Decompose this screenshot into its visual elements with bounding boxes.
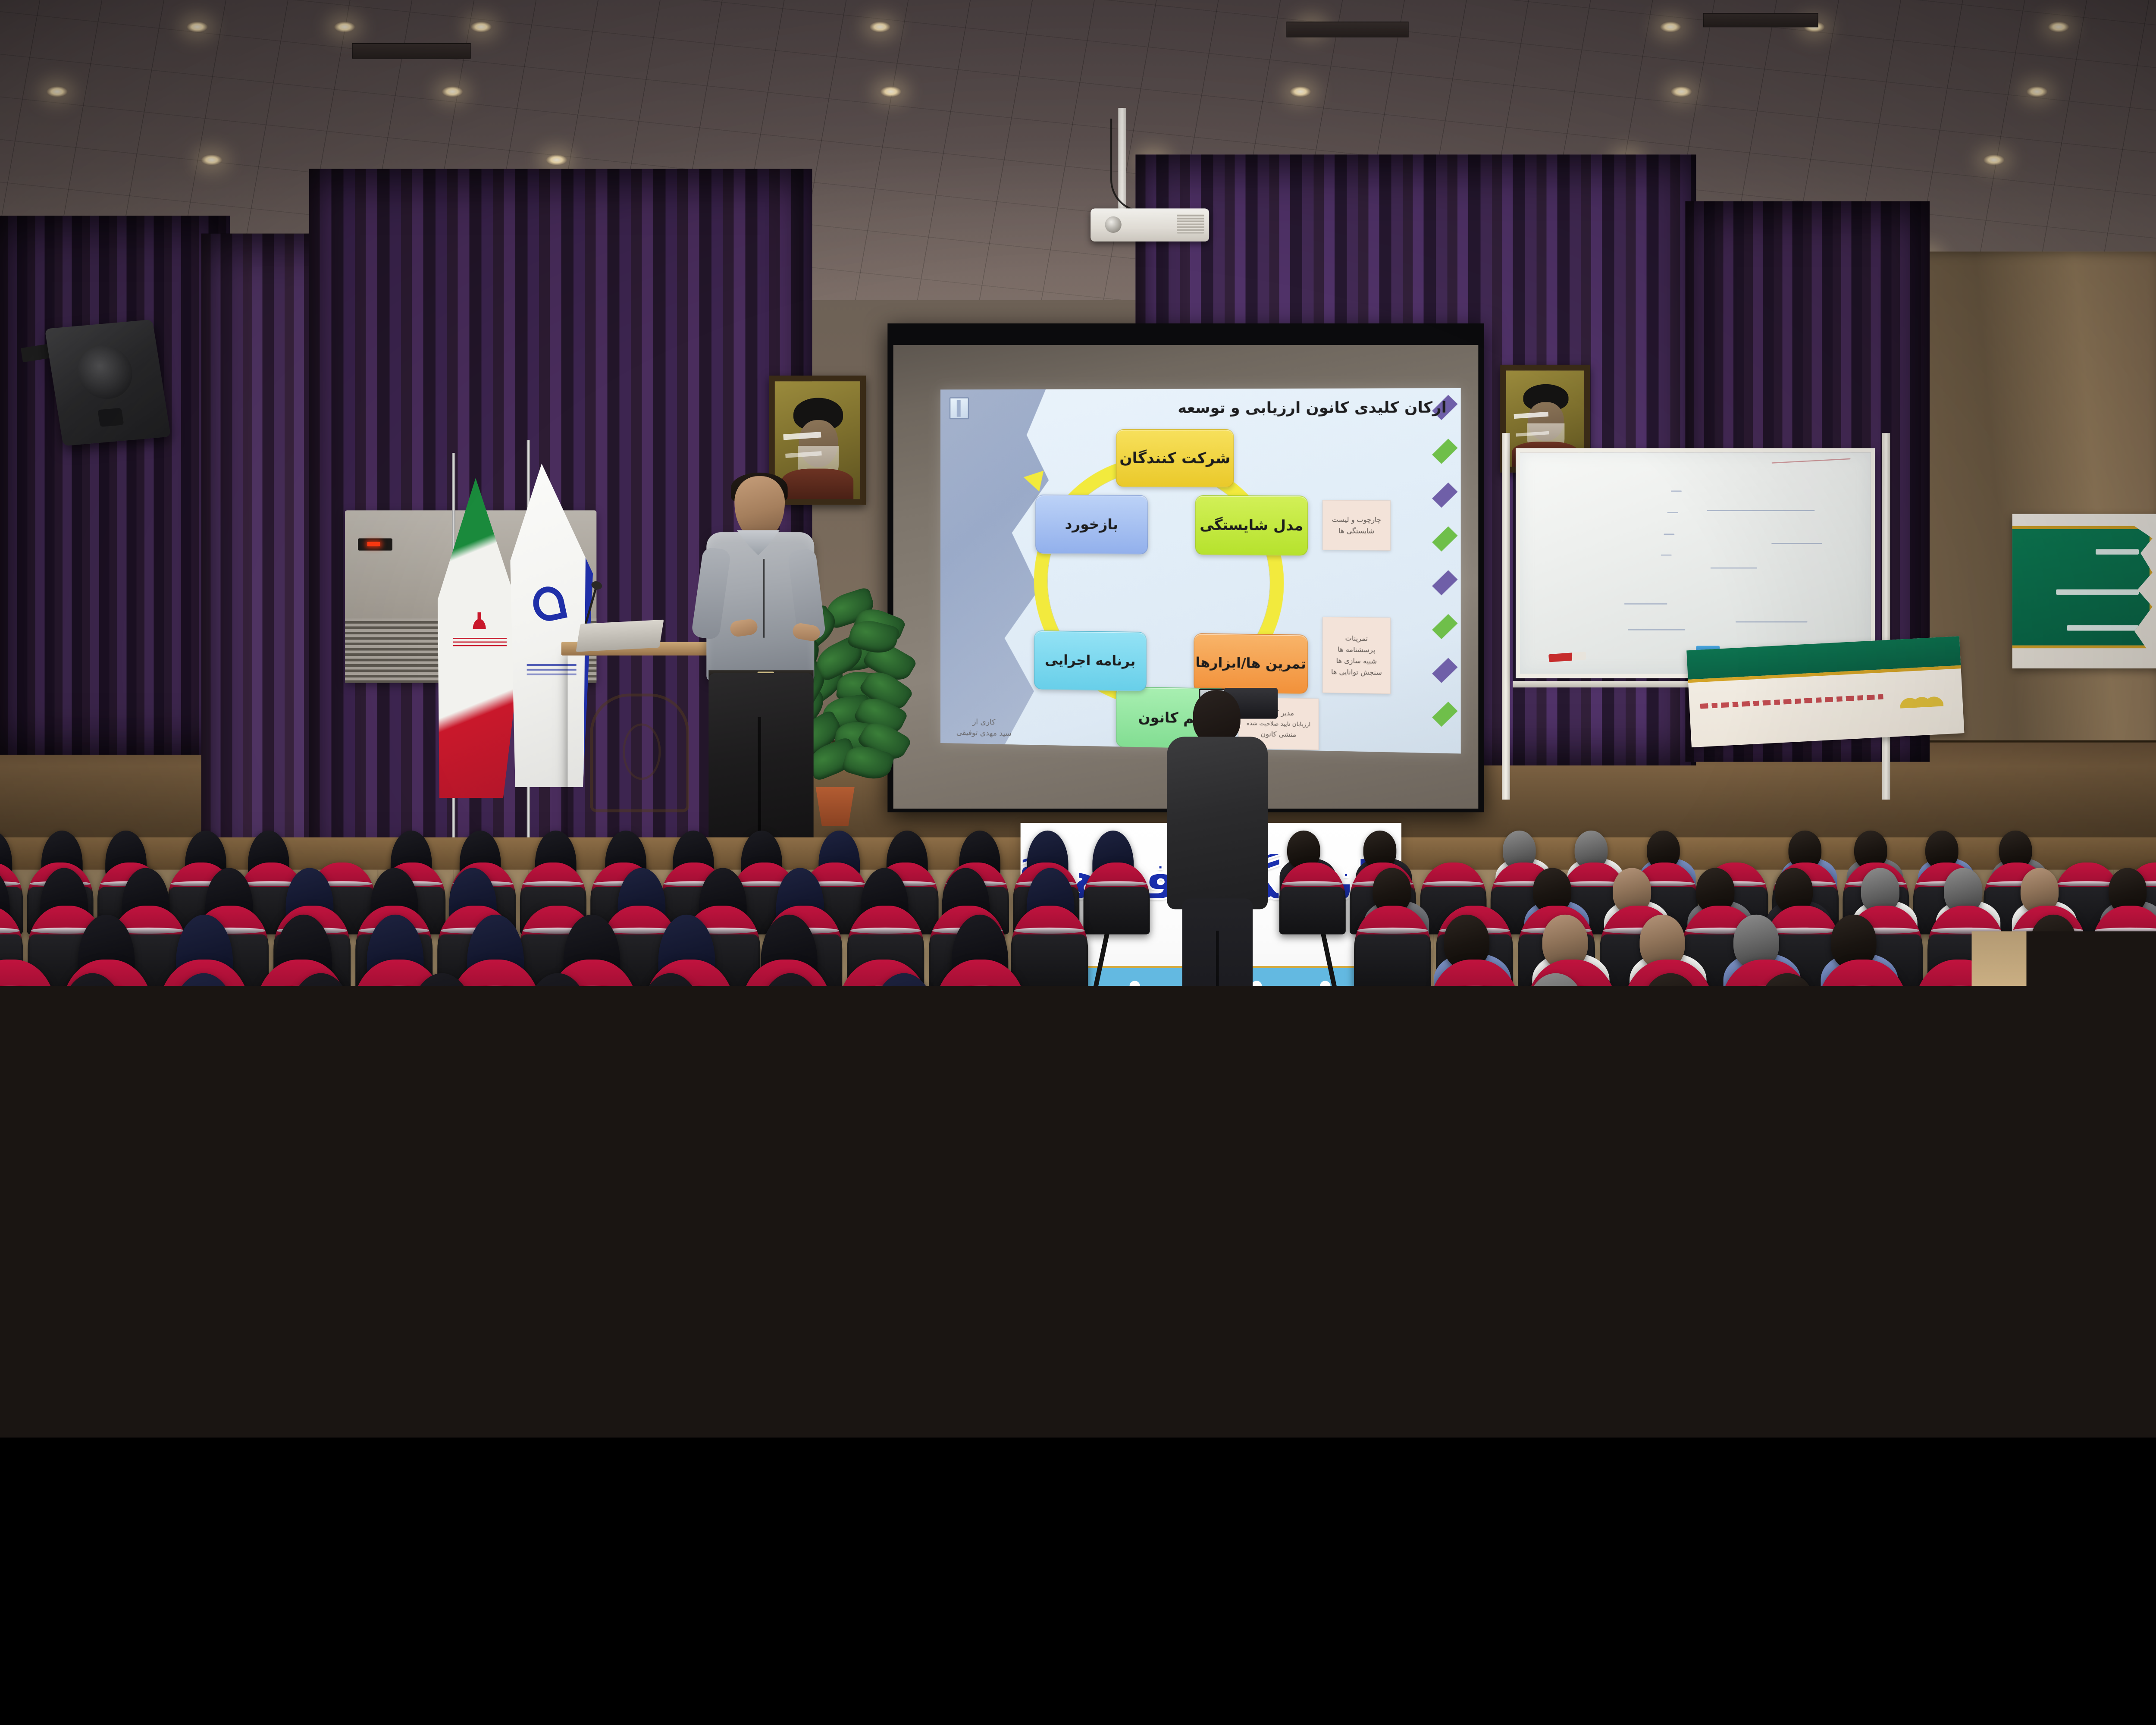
ceiling-downlight <box>870 22 890 32</box>
ceiling-downlight <box>2027 86 2047 97</box>
projector-lens-icon <box>1105 216 1122 233</box>
slide-credit-line-1: کاری از <box>956 716 1012 728</box>
podium-carving <box>590 693 689 812</box>
audience-chair[interactable] <box>1279 862 1346 935</box>
operator-shoe-left <box>1176 1074 1215 1089</box>
wall-banner-green <box>2012 514 2156 668</box>
slide-diamond <box>1432 439 1457 464</box>
ceiling-downlight <box>1984 154 2004 165</box>
slide-diamond <box>1432 702 1457 727</box>
audience-chair[interactable] <box>1011 906 1088 990</box>
ceiling-downlight <box>546 154 567 165</box>
note-line: سنجش توانایی ها <box>1326 668 1388 677</box>
ceiling-downlight <box>47 86 67 97</box>
slide-diamond <box>1432 658 1457 683</box>
slide-title: ارکان کلیدی کانون ارزیابی و توسعه <box>1170 398 1447 417</box>
audience-chair[interactable] <box>1354 906 1431 990</box>
chair-armrest[interactable] <box>458 1242 513 1260</box>
ceiling-downlight <box>1671 86 1692 97</box>
chair-armrest[interactable] <box>1632 1389 1701 1412</box>
presenter <box>686 476 856 864</box>
ceiling-downlight <box>2048 22 2069 32</box>
operator-torso <box>1167 737 1268 909</box>
node-exercises-tools: تمرین ها/ابزارها <box>1194 633 1308 694</box>
ceiling-downlight <box>334 22 355 32</box>
node-feedback: بازخورد <box>1035 495 1148 555</box>
banner-wide-red-text <box>1700 694 1883 709</box>
camera-operator <box>1160 690 1275 1107</box>
ceiling-downlight <box>201 154 222 165</box>
audience-chair[interactable] <box>1084 862 1150 935</box>
note-line: شایستگی ها <box>1326 527 1388 535</box>
slide-diamond <box>1432 483 1457 508</box>
operator-head <box>1193 690 1241 743</box>
operator-shoe-right <box>1221 1074 1260 1089</box>
ceiling-vent-far-right <box>1703 13 1818 27</box>
slide-diamond <box>1432 614 1457 639</box>
audience-chair[interactable] <box>1429 960 1520 1060</box>
note-tools: تمرینات پرسشنامه ها شبیه سازی ها سنجش تو… <box>1322 617 1391 694</box>
ceiling-downlight <box>471 22 492 32</box>
projector-cable <box>1110 119 1150 212</box>
note-line: شبیه سازی ها <box>1326 656 1388 665</box>
node-participants: شرکت کنندگان <box>1116 429 1234 487</box>
slide-credit-line-2: سید مهدی توفیقی <box>956 727 1012 739</box>
banner-green-panel <box>2012 526 2153 648</box>
ceiling-downlight <box>442 86 463 97</box>
speaker-tweeter-icon <box>97 408 124 427</box>
pa-speaker <box>45 320 171 446</box>
operator-legs <box>1182 898 1253 1078</box>
slide-decoration-shape <box>940 388 1049 754</box>
slide-logo-icon <box>950 397 969 419</box>
ac-indicator-light <box>358 538 392 550</box>
auditorium-scene: ارکان کلیدی کانون ارزیابی و توسعه شرکت ک… <box>0 0 2156 1437</box>
ceiling-projector <box>1091 208 1209 241</box>
ceiling-downlight <box>881 86 901 97</box>
node-execution-plan: برنامه اجرایی <box>1034 630 1147 691</box>
presenter-head <box>734 476 785 539</box>
speaker-cone-icon <box>74 343 136 401</box>
podium-laptop <box>576 620 664 652</box>
slide-diamond-column <box>1433 392 1457 750</box>
ceiling-vent-right <box>1286 22 1408 38</box>
projector-vent-icon <box>1177 214 1204 234</box>
presenter-lapel-mic <box>763 559 765 638</box>
ceiling-downlight <box>1290 86 1311 97</box>
curtain-far-left <box>0 216 230 755</box>
tripod-lock-right[interactable] <box>1279 992 1294 1005</box>
ceiling-downlight <box>187 22 207 32</box>
presenter-trousers <box>708 673 813 856</box>
chair-armrest[interactable] <box>1561 1242 1617 1260</box>
wall-banner-wide <box>1686 636 1964 747</box>
note-line: تمرینات <box>1326 634 1388 643</box>
ceiling-vent-left <box>352 43 471 59</box>
note-line: چارچوب و لیست <box>1326 515 1388 524</box>
slide-diamond <box>1432 570 1457 595</box>
slide-credit: کاری از سید مهدی توفیقی <box>956 716 1012 739</box>
whiteboard-marker[interactable] <box>1548 652 1586 662</box>
note-line: پرسشنامه ها <box>1326 645 1388 654</box>
slide-diamond <box>1432 526 1457 552</box>
note-competency: چارچوب و لیست شایستگی ها <box>1322 500 1391 551</box>
ceiling-downlight <box>1660 22 1681 32</box>
banner-wide-motif-icon <box>1899 677 1943 709</box>
node-competency-model: مدل شایستگی <box>1195 495 1308 555</box>
